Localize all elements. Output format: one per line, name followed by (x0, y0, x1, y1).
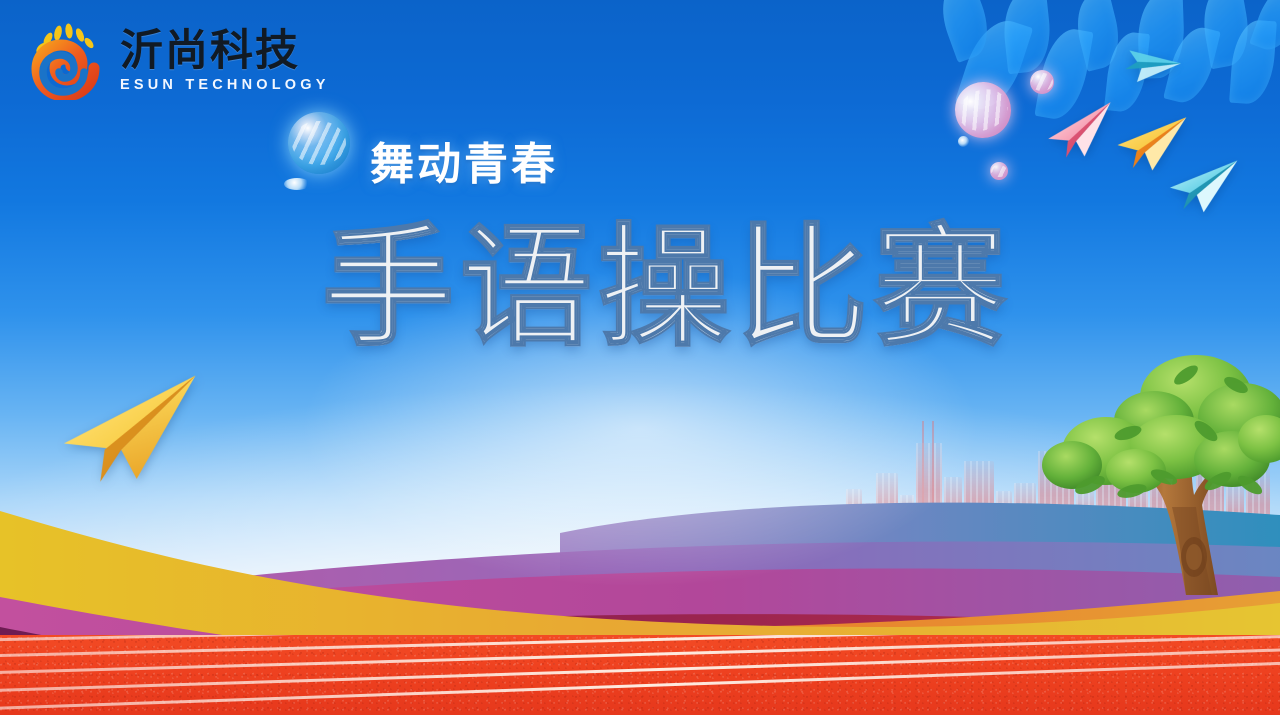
bubble-ball-icon (1030, 70, 1054, 94)
poster-subtitle: 舞动青春 (370, 128, 558, 192)
tree-icon (1036, 335, 1280, 595)
brand-name-en: ESUN TECHNOLOGY (120, 78, 330, 93)
paper-plane-icon (1114, 33, 1183, 100)
bubble-ball-icon (288, 112, 350, 174)
running-track (0, 635, 1280, 715)
bubble-ball-icon (990, 162, 1008, 180)
esun-swirl-sun-logo (24, 22, 110, 100)
poster-title: 手语操比赛 (322, 222, 1012, 354)
paper-plane-icon (1165, 156, 1244, 217)
poster-canvas: 沂尚科技 ESUN TECHNOLOGY 舞动青春 手语操比赛 (0, 0, 1280, 715)
bubble-ball-icon (284, 178, 310, 190)
brand-logo[interactable]: 沂尚科技 ESUN TECHNOLOGY (24, 22, 330, 100)
brand-name-cn: 沂尚科技 (120, 30, 330, 73)
bubble-ball-icon (947, 74, 1019, 146)
track-texture (0, 635, 1280, 715)
bubble-ball-icon (958, 136, 969, 147)
